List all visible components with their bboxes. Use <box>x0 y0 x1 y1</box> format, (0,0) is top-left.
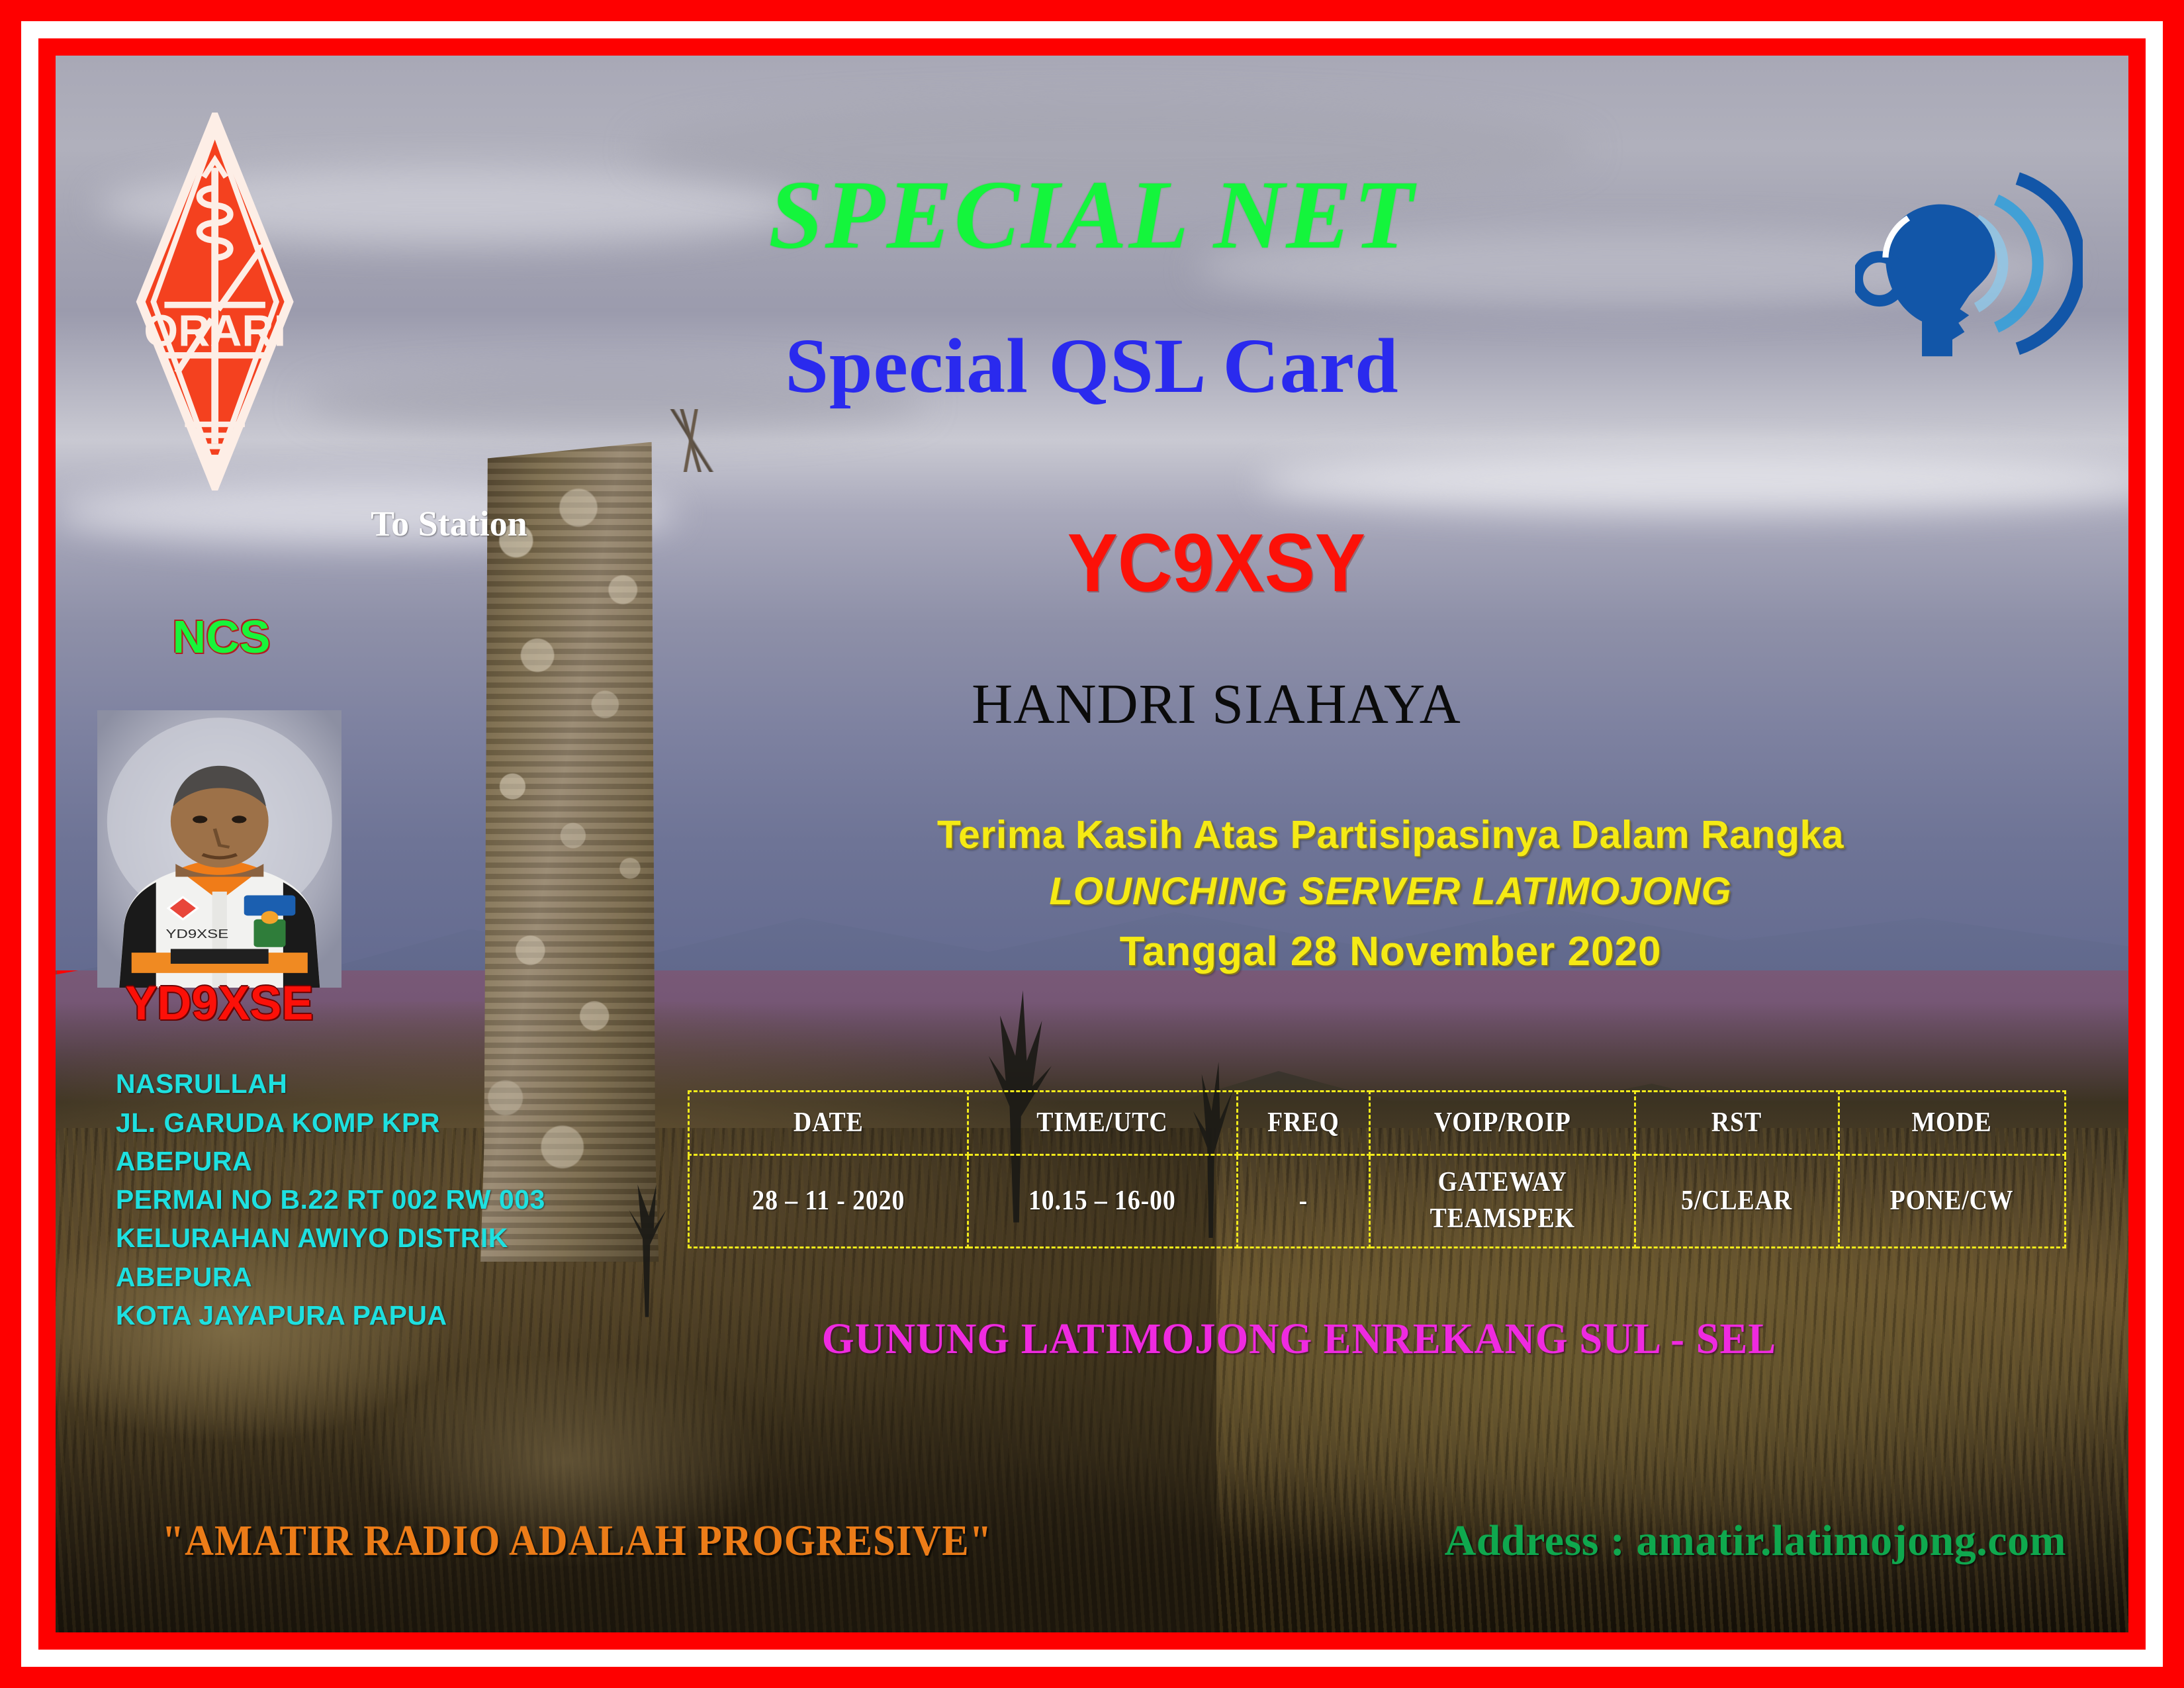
ncs-callsign: YD9XSE <box>89 976 350 1031</box>
address-line: JL. GARUDA KOMP KPR <box>116 1103 545 1142</box>
event-date-line: Tanggal 28 November 2020 <box>740 928 2042 975</box>
page-title-special-net: SPECIAL NET <box>56 166 2128 264</box>
cell-time-utc: 10.15 – 16-00 <box>981 1154 1224 1247</box>
operator-name: HANDRI SIAHAYA <box>512 671 1921 737</box>
ncs-operator-photo: YD9XSE <box>97 710 342 988</box>
uniform-callsign-text: YD9XSE <box>165 927 228 940</box>
cell-date: 28 – 11 - 2020 <box>703 1154 954 1247</box>
cell-rst: 5/CLEAR <box>1645 1154 1829 1247</box>
address-line: KOTA JAYAPURA PAPUA <box>116 1296 545 1335</box>
to-station-label: To Station <box>371 503 527 544</box>
cell-voip-roip: GATEWAY TEAMSPEK <box>1383 1154 1621 1247</box>
qsl-card-photo-area: ORARI <box>56 56 2128 1632</box>
page-subtitle-special-qsl-card: Special QSL Card <box>56 327 2128 405</box>
column-header-date: DATE <box>703 1091 954 1154</box>
cloud-band <box>1258 450 2128 513</box>
motto-text: "AMATIR RADIO ADALAH PROGRESIVE" <box>162 1516 993 1566</box>
qso-log-table: DATE TIME/UTC FREQ VOIP/ROIP RST MODE 28… <box>688 1090 2066 1248</box>
mailing-address-block: NASRULLAH JL. GARUDA KOMP KPR ABEPURA PE… <box>116 1064 545 1335</box>
table-row: 28 – 11 - 2020 10.15 – 16-00 - GATEWAY T… <box>689 1154 2066 1247</box>
callsign-value: YC9XSY <box>568 522 1864 604</box>
cell-voip-roip-line1: GATEWAY <box>1384 1164 1621 1201</box>
address-line: ABEPURA <box>116 1142 545 1180</box>
address-line: ABEPURA <box>116 1258 545 1296</box>
web-address-text: Address : amatir.latimojong.com <box>1445 1516 2066 1566</box>
column-header-mode: MODE <box>1850 1091 2054 1154</box>
address-line: NASRULLAH <box>116 1064 545 1103</box>
event-name-line: LOUNCHING SERVER LATIMOJONG <box>740 869 2042 914</box>
event-thanks-line: Terima Kasih Atas Partisipasinya Dalam R… <box>740 812 2042 857</box>
event-thanks-block: Terima Kasih Atas Partisipasinya Dalam R… <box>740 812 2042 975</box>
table-header-row: DATE TIME/UTC FREQ VOIP/ROIP RST MODE <box>689 1091 2066 1154</box>
column-header-voip-roip: VOIP/ROIP <box>1383 1091 1621 1154</box>
qsl-card-inner-red-border: ORARI <box>38 38 2146 1650</box>
ncs-label: NCS <box>118 610 325 663</box>
qsl-card-white-border: ORARI <box>21 21 2163 1667</box>
cairn-twigs <box>640 409 744 472</box>
address-line: PERMAI NO B.22 RT 002 RW 003 <box>116 1180 545 1219</box>
cell-freq: - <box>1244 1154 1363 1247</box>
qsl-card-outer-border: ORARI <box>0 0 2184 1688</box>
column-header-rst: RST <box>1645 1091 1829 1154</box>
cell-mode: PONE/CW <box>1850 1154 2054 1247</box>
cell-voip-roip-line2: TEAMSPEK <box>1384 1201 1621 1237</box>
callsign-wrapper: YC9XSY <box>512 522 1921 604</box>
column-header-time-utc: TIME/UTC <box>981 1091 1224 1154</box>
column-header-freq: FREQ <box>1244 1091 1363 1154</box>
address-line: KELURAHAN AWIYO DISTRIK <box>116 1219 545 1257</box>
location-line: GUNUNG LATIMOJONG ENREKANG SUL - SEL <box>630 1314 1969 1364</box>
